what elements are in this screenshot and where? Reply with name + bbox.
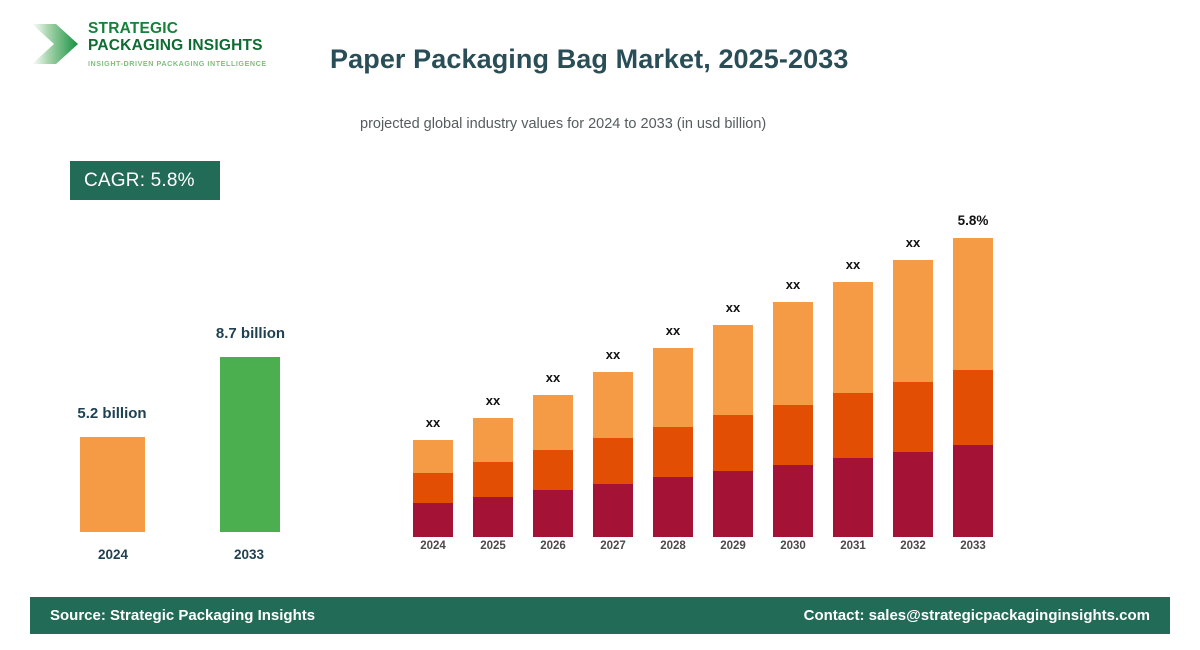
bar-category-label-2024: 2024 — [82, 547, 144, 562]
bar-segment-segment-2-2026 — [533, 450, 573, 490]
bar-value-label-2027: xx — [585, 347, 641, 362]
stacked-bar-2027 — [593, 372, 633, 537]
footer-contact[interactable]: Contact: sales@strategicpackaginginsight… — [804, 607, 1150, 624]
bar-segment-segment-3-2028 — [653, 348, 693, 427]
x-axis-label-2030: 2030 — [765, 540, 821, 552]
comparison-bar-2033 — [220, 357, 280, 532]
stacked-bar-2028 — [653, 348, 693, 537]
bar-segment-segment-2-2030 — [773, 405, 813, 465]
bar-segment-segment-3-2024 — [413, 440, 453, 473]
x-axis-label-2031: 2031 — [825, 540, 881, 552]
bar-segment-segment-3-2026 — [533, 395, 573, 450]
stacked-bar-2024 — [413, 440, 453, 537]
bar-segment-segment-2-2032 — [893, 382, 933, 452]
bar-segment-segment-3-2029 — [713, 325, 753, 415]
chevron-arrow-icon — [30, 18, 82, 70]
stacked-bar-2026 — [533, 395, 573, 537]
bar-value-label-2028: xx — [645, 323, 701, 338]
projection-stacked-chart: xxxxxxxxxxxxxxxxxx5.8% 20242025202620272… — [405, 200, 1025, 560]
bar-value-label-2031: xx — [825, 257, 881, 272]
footer-source: Source: Strategic Packaging Insights — [50, 607, 315, 624]
stacked-plot-area: xxxxxxxxxxxxxxxxxx5.8% — [405, 200, 1025, 537]
x-axis-label-2027: 2027 — [585, 540, 641, 552]
bar-segment-segment-3-2031 — [833, 282, 873, 393]
logo-line-2: PACKAGING INSIGHTS — [88, 37, 267, 54]
bar-value-label-2032: xx — [885, 235, 941, 250]
x-axis-label-2025: 2025 — [465, 540, 521, 552]
bar-value-label-2024: xx — [405, 415, 461, 430]
brand-wordmark: STRATEGIC PACKAGING INSIGHTS INSIGHT-DRI… — [88, 20, 267, 68]
bar-category-label-2033: 2033 — [218, 547, 280, 562]
bar-value-label-2026: xx — [525, 370, 581, 385]
stacked-bar-2033 — [953, 238, 993, 537]
bar-value-label-2033: 8.7 billion — [198, 325, 303, 342]
bar-segment-segment-3-2030 — [773, 302, 813, 405]
bar-segment-segment-1-2031 — [833, 458, 873, 537]
stacked-bar-2029 — [713, 325, 753, 537]
cagr-badge: CAGR: 5.8% — [70, 161, 220, 200]
bar-segment-segment-3-2033 — [953, 238, 993, 370]
x-axis-label-2033: 2033 — [945, 540, 1001, 552]
bar-segment-segment-3-2025 — [473, 418, 513, 462]
bar-segment-segment-1-2029 — [713, 471, 753, 537]
bar-segment-segment-1-2024 — [413, 503, 453, 537]
bar-segment-segment-3-2032 — [893, 260, 933, 382]
stacked-bar-2025 — [473, 418, 513, 537]
bar-value-label-2030: xx — [765, 277, 821, 292]
x-axis-label-2024: 2024 — [405, 540, 461, 552]
bar-segment-segment-2-2027 — [593, 438, 633, 484]
bar-segment-segment-3-2027 — [593, 372, 633, 438]
bar-segment-segment-2-2031 — [833, 393, 873, 458]
stacked-bar-2032 — [893, 260, 933, 537]
x-axis-label-2026: 2026 — [525, 540, 581, 552]
bar-segment-segment-1-2030 — [773, 465, 813, 537]
brand-logo: STRATEGIC PACKAGING INSIGHTS INSIGHT-DRI… — [30, 14, 260, 76]
bar-segment-segment-1-2032 — [893, 452, 933, 537]
x-axis-label-2032: 2032 — [885, 540, 941, 552]
bar-segment-segment-1-2028 — [653, 477, 693, 537]
logo-line-1: STRATEGIC — [88, 20, 267, 37]
bar-segment-segment-2-2028 — [653, 427, 693, 477]
bar-segment-segment-2-2024 — [413, 473, 453, 503]
bar-segment-segment-1-2026 — [533, 490, 573, 537]
bar-segment-segment-2-2033 — [953, 370, 993, 445]
x-axis-label-2029: 2029 — [705, 540, 761, 552]
bar-segment-segment-1-2027 — [593, 484, 633, 537]
logo-tagline: INSIGHT-DRIVEN PACKAGING INTELLIGENCE — [88, 59, 267, 68]
bar-value-label-2033: 5.8% — [945, 213, 1001, 228]
bar-value-label-2024: 5.2 billion — [62, 405, 162, 422]
bar-value-label-2025: xx — [465, 393, 521, 408]
bar-segment-segment-1-2033 — [953, 445, 993, 537]
footer-bar: Source: Strategic Packaging Insights Con… — [30, 597, 1170, 634]
bar-segment-segment-1-2025 — [473, 497, 513, 537]
bar-segment-segment-2-2025 — [473, 462, 513, 497]
stacked-bar-2031 — [833, 282, 873, 537]
bar-segment-segment-2-2029 — [713, 415, 753, 471]
stacked-bar-2030 — [773, 302, 813, 537]
comparison-bar-2024 — [80, 437, 145, 532]
x-axis-label-2028: 2028 — [645, 540, 701, 552]
page-subtitle: projected global industry values for 202… — [360, 116, 980, 132]
page-title: Paper Packaging Bag Market, 2025-2033 — [330, 44, 970, 75]
bar-value-label-2029: xx — [705, 300, 761, 315]
endpoint-comparison-chart: 5.2 billion 8.7 billion 2024 2033 — [50, 300, 310, 570]
